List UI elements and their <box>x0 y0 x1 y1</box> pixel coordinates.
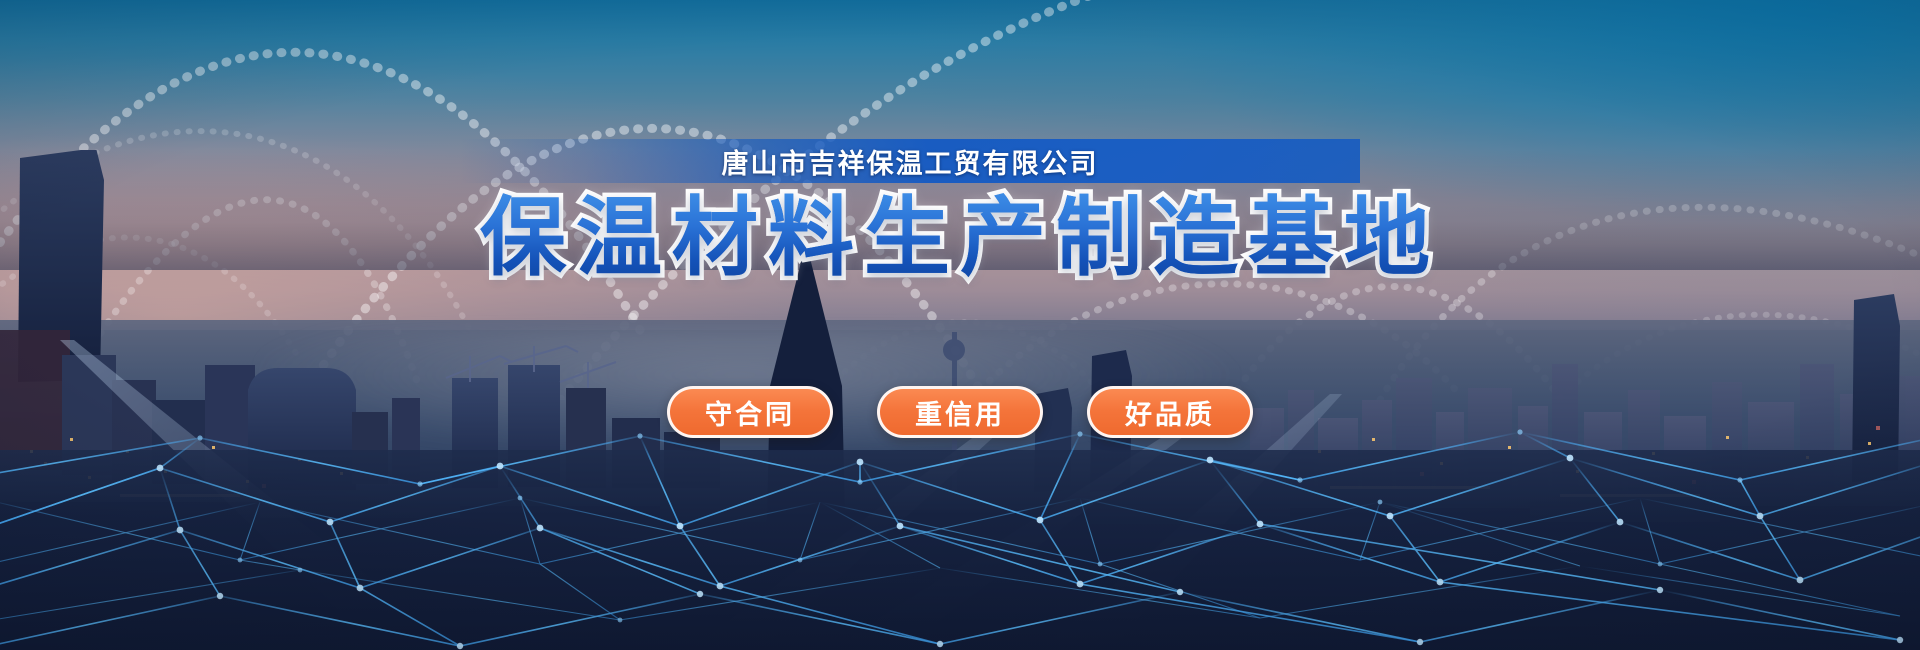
headline-outline: 保温材料生产制造基地 <box>0 188 1920 289</box>
pill-hao-pin-zhi[interactable]: 好品质 <box>1087 386 1253 438</box>
banner-content: 唐山市吉祥保温工贸有限公司 保温材料生产制造基地 保温材料生产制造基地 守合同 … <box>0 0 1920 650</box>
hero-banner: .dd{fill:none;stroke:#ffffff;stroke-line… <box>0 0 1920 650</box>
company-name: 唐山市吉祥保温工贸有限公司 <box>460 139 1360 183</box>
feature-pill-group: 守合同 重信用 好品质 <box>0 386 1920 438</box>
pill-zhong-xin-yong[interactable]: 重信用 <box>877 386 1043 438</box>
pill-shou-he-tong[interactable]: 守合同 <box>667 386 833 438</box>
